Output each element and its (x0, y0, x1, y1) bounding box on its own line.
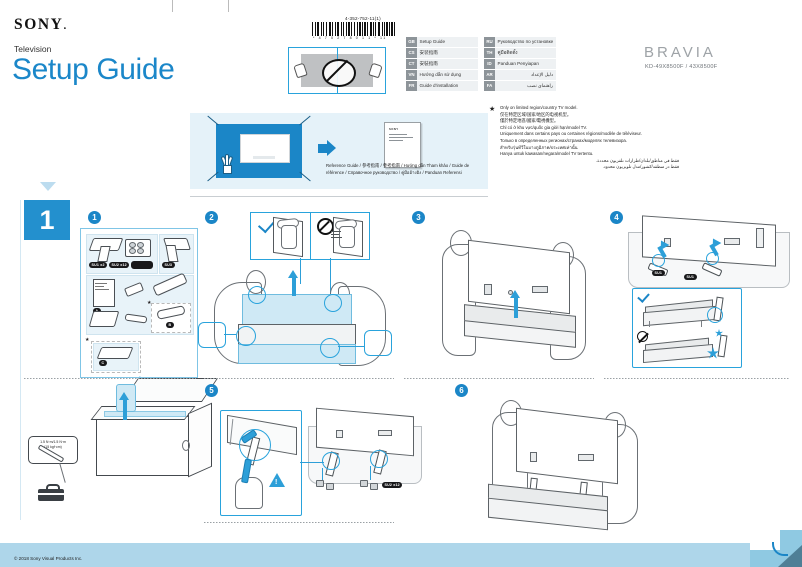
language-title: Panduan Penyiapan (498, 59, 539, 69)
stand-leg (718, 335, 728, 358)
part-tag: C (99, 360, 107, 366)
part-tag: SU1 x2 (89, 262, 107, 268)
screw-highlight (370, 450, 388, 468)
language-code: FR (406, 81, 417, 91)
reference-guide-caption: Reference Guide / 参考指南 / 參考指南 / Hướng dẫ… (326, 163, 486, 176)
incorrect-method (310, 213, 369, 259)
language-code: ID (484, 59, 495, 69)
step-3-scene (440, 228, 590, 370)
language-code: VN (406, 70, 417, 80)
step-4-badge: 4 (610, 211, 623, 224)
step-5-detail-box (220, 410, 302, 516)
part-tag: B (166, 322, 174, 328)
note-line: Uniquement dans certains pays ou certain… (500, 131, 679, 138)
step-6-scene (486, 398, 646, 528)
check-icon (637, 290, 650, 303)
cable-tie (131, 261, 153, 269)
step-4-correct-incorrect-box (632, 288, 742, 368)
language-code: RU (484, 37, 495, 47)
leg-ok-highlight (707, 307, 723, 323)
tv-panel (516, 408, 618, 485)
note-line: Hanya untuk kawasan/negara/model TV tert… (500, 151, 679, 158)
booklet-brand: SONY (389, 127, 399, 131)
hand-detail-left (198, 322, 226, 348)
hand-holding-screwdriver (235, 477, 263, 509)
wall-tv (240, 134, 290, 163)
language-column-b: RU Руководство по установке TH คู่มือติด… (484, 37, 556, 92)
correct-method (251, 213, 309, 259)
language-row: AR دليل الإعداد (484, 70, 556, 80)
step-4-scene: SU1 SU1 (628, 218, 788, 290)
part-tag: SU2 x12 (109, 262, 129, 268)
corner-mark (207, 116, 218, 126)
language-row: VN Hướng dẫn sử dụng (406, 70, 478, 80)
screwdriver-torque-callout: 1.5 N·m/1.5 N·m (15 kgf·cm) (28, 436, 78, 464)
grip-highlight (248, 286, 266, 304)
language-row: CS 安装指南 (406, 48, 478, 58)
warning-icon (269, 473, 285, 487)
language-row: ID Panduan Penyiapan (484, 59, 556, 69)
note-line: Только в определенных регионах/странах/м… (500, 138, 679, 145)
language-title: Setup Guide (420, 37, 446, 47)
note-line: فقط در منطقه/کشور/مدل تلویزیون محدود. (500, 164, 679, 171)
language-row: RU Руководство по установке (484, 37, 556, 47)
note-line: Only on limited region/country TV model. (500, 105, 679, 112)
part-tag: SU1 (652, 270, 665, 276)
carton-inner-edge (104, 411, 186, 417)
setup-guide-page: SONY. Television Setup Guide 4-352-752-1… (0, 0, 802, 567)
language-row: CT 安裝指南 (406, 59, 478, 69)
step-6-badge: 6 (455, 384, 468, 397)
tool-bag-icon (38, 484, 64, 501)
note-line: สำหรับรุ่นทีวีในบางภูมิภาค/ประเทศเท่านั้… (500, 145, 679, 152)
section-number: 1 (24, 200, 70, 240)
arm (281, 225, 297, 249)
accessories-box: SU1 x2 SU2 x12 SU3 A B ★ C ★ (80, 228, 198, 378)
part-tag: SU1 (684, 274, 697, 280)
torque-line-1: 1.5 N·m/1.5 N·m (32, 440, 74, 445)
prohibited-icon (637, 331, 648, 342)
ac-adapter (89, 311, 120, 327)
language-code: TH (484, 48, 495, 58)
reference-guide-booklet: SONY (384, 122, 421, 168)
step-3-badge: 3 (412, 211, 425, 224)
star-icon: ★ (85, 337, 89, 343)
sony-logo: SONY. (14, 16, 68, 34)
barcode (312, 22, 396, 36)
note-line: 僅於特定地區/國家/電視機型。 (500, 118, 679, 125)
do-not-touch-screen-illustration (288, 47, 386, 94)
footer-bar (0, 543, 802, 567)
note-line: Chỉ có ở khu vực/quốc gia giới hạn/model… (500, 125, 679, 132)
language-title: 安裝指南 (420, 59, 438, 69)
crop-mark-right (228, 0, 229, 12)
step-2-detail-box (250, 212, 370, 260)
copyright-text: © 2018 Sony Visual Products Inc. (14, 556, 82, 561)
step-5-scene: SU2 x12 (300, 410, 420, 510)
language-column-a: GB Setup Guide CS 安装指南 CT 安裝指南 VN Hướng … (406, 37, 478, 92)
carton-body (96, 416, 190, 476)
language-title: 安装指南 (420, 48, 438, 58)
language-title: Руководство по установке (498, 37, 554, 47)
barcode-digits: * 4 7 0 2 7 8 0 1 1 * 11 (313, 36, 387, 40)
prohibited-icon (317, 218, 334, 235)
language-row: FR Guide d'installation (406, 81, 478, 91)
part-tag: SU2 x12 (382, 482, 402, 488)
language-title: Guide d'installation (420, 81, 459, 91)
screw-point-magnifier (239, 429, 271, 461)
note-list: Only on limited region/country TV model.… (489, 105, 679, 171)
language-code: CT (406, 59, 417, 69)
language-title: คู่มือติดตั้ง (498, 48, 518, 58)
section-arrow-icon (40, 182, 56, 191)
carton-illustration (86, 378, 216, 498)
page-title: Setup Guide (12, 53, 174, 87)
step-2-scene (212, 268, 388, 373)
step-5-badge: 5 (205, 384, 218, 397)
regional-note-block: ★ Only on limited region/country TV mode… (489, 105, 679, 171)
screw-highlight (322, 452, 340, 470)
step-2-badge: 2 (205, 211, 218, 224)
wall-bracket (97, 347, 134, 359)
styrofoam-lid (122, 378, 218, 402)
bravia-logo: BRAVIA (644, 44, 716, 61)
language-title: راهنمای نصب (527, 81, 553, 91)
language-code: FA (484, 81, 495, 91)
wall-mount-illustration (204, 118, 312, 184)
language-row: GB Setup Guide (406, 37, 478, 47)
note-line: فقط في مناطق/بلدان/طرازات تلفزيون محددة. (500, 158, 679, 165)
grip-highlight (324, 294, 342, 312)
carton-side (188, 403, 212, 478)
language-row: TH คู่มือติดตั้ง (484, 48, 556, 58)
language-code: GB (406, 37, 417, 47)
page-turn-corner (750, 530, 802, 567)
part-tag: SU3 (162, 262, 175, 268)
language-title: Hướng dẫn sử dụng (420, 70, 462, 80)
grip-highlight (236, 326, 256, 346)
language-title: دليل الإعداد (531, 70, 553, 80)
crop-mark-left (172, 0, 173, 12)
hand-detail-right (364, 330, 392, 356)
model-number: KD-49X8500F / 43X8500F (645, 64, 718, 70)
grip-highlight (320, 338, 340, 358)
language-code: AR (484, 70, 495, 80)
star-icon: ★ (489, 106, 495, 113)
language-row: FA راهنمای نصب (484, 81, 556, 91)
document-number: 4-352-752-11(1) (345, 16, 381, 21)
tv-rear (316, 408, 414, 457)
tv-panel (468, 240, 570, 315)
star-icon: ★ (147, 300, 151, 306)
step-1-badge: 1 (88, 211, 101, 224)
corner-mark (299, 116, 310, 126)
prohibited-touch-icon (322, 59, 356, 87)
language-code: CS (406, 48, 417, 58)
plant-decoration (222, 154, 231, 172)
